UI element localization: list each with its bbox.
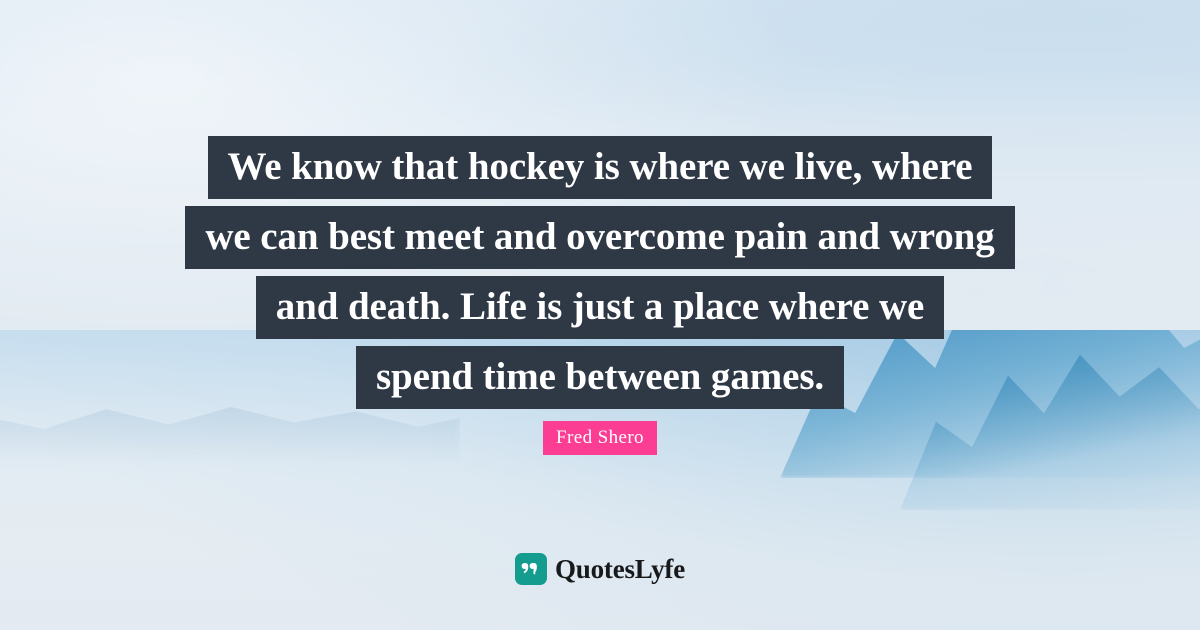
quote-line: and death. Life is just a place where we	[256, 276, 945, 339]
quote-card: We know that hockey is where we live, wh…	[0, 0, 1200, 630]
quote-text: We know that hockey is where we live, wh…	[0, 136, 1200, 409]
attribution: Fred Shero	[0, 421, 1200, 455]
quote-line: we can best meet and overcome pain and w…	[185, 206, 1014, 269]
brand-name: QuotesLyfe	[555, 556, 685, 583]
quote-marks-icon	[515, 553, 547, 585]
quote-line: spend time between games.	[356, 346, 844, 409]
card-content: We know that hockey is where we live, wh…	[0, 0, 1200, 630]
author-badge[interactable]: Fred Shero	[543, 421, 657, 455]
brand-logo[interactable]: QuotesLyfe	[0, 553, 1200, 585]
quote-line: We know that hockey is where we live, wh…	[208, 136, 993, 199]
